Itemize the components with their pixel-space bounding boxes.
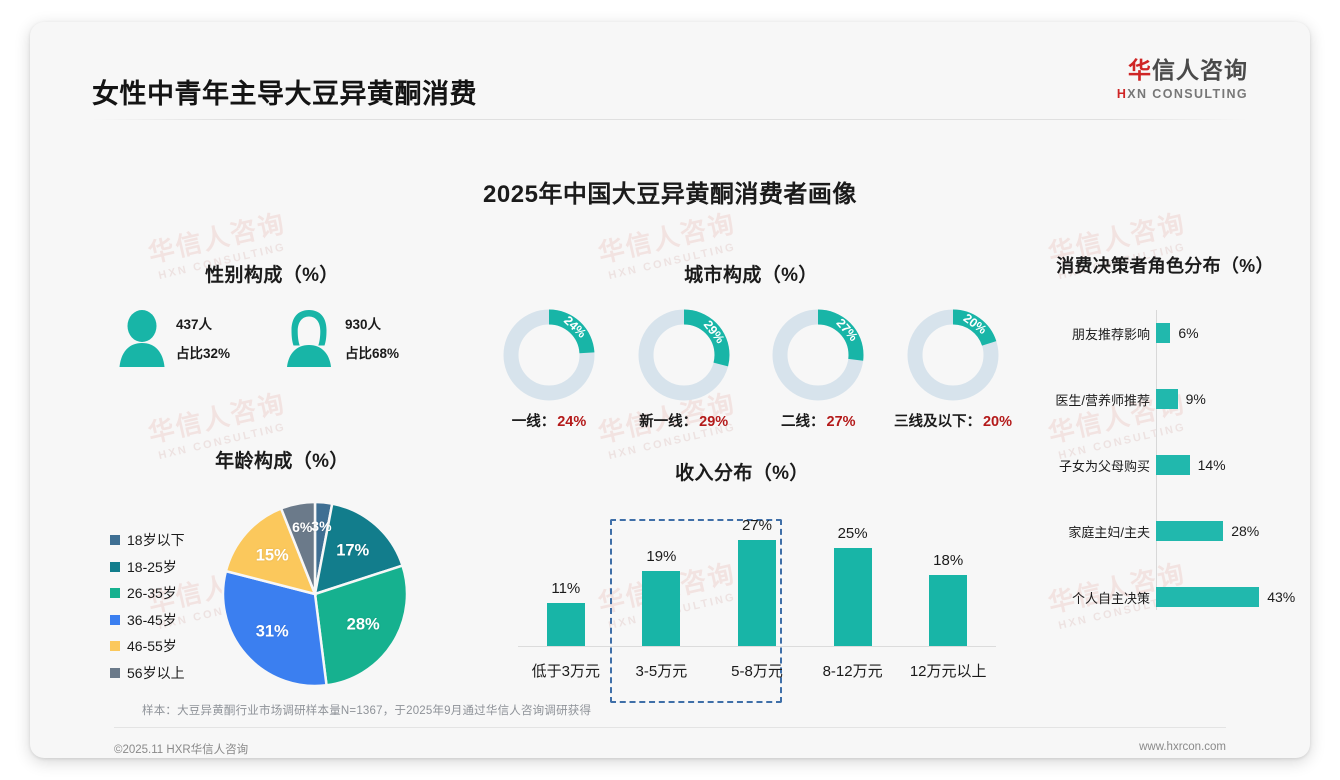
role-value-label: 6% <box>1178 325 1198 341</box>
bar-value-label: 18% <box>933 552 963 569</box>
legend-label: 26-35岁 <box>127 583 177 603</box>
gender-count-female: 930人 <box>345 310 399 339</box>
bar-value-label: 11% <box>551 580 580 597</box>
role-row: 个人自主决策43% <box>1030 584 1300 610</box>
page-title: 女性中青年主导大豆异黄酮消费 <box>92 72 477 111</box>
role-value-label: 9% <box>1186 391 1206 407</box>
role-value-label: 14% <box>1198 457 1226 473</box>
city-panel: 城市构成（%） 24%一线：24% 29%新一线：29% 27%二线：27% 2… <box>482 260 1020 431</box>
pie-slice-label: 31% <box>256 622 289 641</box>
bar-category-label: 5-8万元 <box>709 660 805 681</box>
bar <box>642 571 680 646</box>
legend-item: 18-25岁 <box>110 554 220 581</box>
donut-chart: 24% <box>503 309 595 401</box>
income-title: 收入分布（%） <box>482 458 1002 485</box>
website-url: www.hxrcon.com <box>1139 741 1226 753</box>
role-label: 医生/营养师推荐 <box>1030 390 1150 409</box>
role-bar <box>1156 389 1178 409</box>
donut-chart: 20% <box>907 309 999 401</box>
bar-category-label: 12万元以上 <box>900 660 996 681</box>
bar-category-label: 8-12万元 <box>805 660 901 681</box>
gender-title: 性别构成（%） <box>92 260 452 287</box>
legend-swatch-icon <box>110 535 120 545</box>
role-label: 家庭主妇/主夫 <box>1030 522 1150 541</box>
legend-swatch-icon <box>110 668 120 678</box>
role-bar <box>1156 587 1259 607</box>
legend-item: 56岁以上 <box>110 660 220 687</box>
bar-value-label: 25% <box>838 525 868 542</box>
donut-caption-label: 新一线： <box>639 414 697 430</box>
brand-logo: 华信人咨询 HXN CONSULTING <box>1117 58 1248 101</box>
roles-panel: 消费决策者角色分布（%） 朋友推荐影响6%医生/营养师推荐9%子女为父母购买14… <box>1030 252 1300 610</box>
income-bars: 11%19%27%25%18% <box>518 511 996 646</box>
sample-note: 样本：大豆异黄酮行业市场调研样本量N=1367，于2025年9月通过华信人咨询调… <box>142 702 591 718</box>
gender-count-male: 437人 <box>176 310 230 339</box>
legend-label: 46-55岁 <box>127 636 177 656</box>
age-pie-chart: 3%17%28%31%15%6% <box>220 499 410 689</box>
logo-cn-red: 华 <box>1128 57 1152 83</box>
donut-caption-label: 二线： <box>781 414 825 430</box>
role-bar <box>1156 521 1223 541</box>
legend-label: 18岁以下 <box>127 530 185 550</box>
legend-label: 18-25岁 <box>127 557 177 577</box>
donut-caption-value: 24% <box>557 414 586 430</box>
bar-column: 11% <box>518 511 614 646</box>
bar <box>929 575 967 646</box>
donut-caption: 二线：27% <box>757 410 879 431</box>
male-silhouette-icon <box>118 309 166 369</box>
legend-swatch-icon <box>110 588 120 598</box>
role-value-label: 43% <box>1267 589 1295 605</box>
age-panel: 年龄构成（%） 18岁以下18-25岁26-35岁36-45岁46-55岁56岁… <box>92 446 472 689</box>
legend-item: 18岁以下 <box>110 527 220 554</box>
role-label: 子女为父母购买 <box>1030 456 1150 475</box>
income-panel: 收入分布（%） 11%19%27%25%18% 低于3万元3-5万元5-8万元8… <box>482 458 1002 687</box>
donut-caption-value: 20% <box>983 414 1012 430</box>
legend-swatch-icon <box>110 641 120 651</box>
logo-en-red: H <box>1117 87 1127 101</box>
city-donut-item: 29%新一线：29% <box>623 309 745 431</box>
bar-category-label: 3-5万元 <box>614 660 710 681</box>
city-donut-row: 24%一线：24% 29%新一线：29% 27%二线：27% 20%三线及以下：… <box>482 309 1020 431</box>
legend-item: 36-45岁 <box>110 607 220 634</box>
bar-category-label: 低于3万元 <box>518 660 614 681</box>
legend-swatch-icon <box>110 562 120 572</box>
legend-item: 26-35岁 <box>110 580 220 607</box>
role-value-label: 28% <box>1231 523 1259 539</box>
roles-title: 消费决策者角色分布（%） <box>1030 252 1300 278</box>
bar-column: 25% <box>805 511 901 646</box>
header-divider <box>92 119 1248 120</box>
role-row: 朋友推荐影响6% <box>1030 320 1300 346</box>
city-donut-item: 24%一线：24% <box>488 309 610 431</box>
pie-slice-label: 28% <box>347 615 380 634</box>
logo-cn-rest: 信人咨询 <box>1152 57 1248 83</box>
role-bar <box>1156 323 1170 343</box>
bar-column: 19% <box>614 511 710 646</box>
income-x-axis-labels: 低于3万元3-5万元5-8万元8-12万元12万元以上 <box>518 660 996 681</box>
gender-panel: 性别构成（%） 437人 占比32% 930人 占比6 <box>92 260 452 369</box>
donut-caption: 三线及以下：20% <box>892 410 1014 431</box>
donut-chart: 27% <box>772 309 864 401</box>
bar <box>834 548 872 646</box>
bar-value-label: 27% <box>742 517 772 534</box>
role-row: 家庭主妇/主夫28% <box>1030 518 1300 544</box>
bar-value-label: 19% <box>646 548 676 565</box>
donut-caption-label: 三线及以下： <box>894 414 981 430</box>
gender-share-male: 占比32% <box>176 339 230 368</box>
age-legend: 18岁以下18-25岁26-35岁36-45岁46-55岁56岁以上 <box>92 499 220 689</box>
donut-caption-label: 一线： <box>512 414 556 430</box>
slide-header: 女性中青年主导大豆异黄酮消费 华信人咨询 HXN CONSULTING <box>30 22 1310 120</box>
logo-en-rest: XN CONSULTING <box>1127 87 1248 101</box>
donut-chart: 29% <box>638 309 730 401</box>
pie-slice-label: 17% <box>336 542 369 561</box>
donut-caption: 一线：24% <box>488 410 610 431</box>
footer-divider <box>114 727 1226 728</box>
city-donut-item: 20%三线及以下：20% <box>892 309 1014 431</box>
watermark-cn: 华信人咨询 <box>144 383 289 451</box>
bar <box>738 540 776 646</box>
legend-swatch-icon <box>110 615 120 625</box>
gender-share-female: 占比68% <box>345 339 399 368</box>
bar-column: 27% <box>709 511 805 646</box>
chart-subtitle: 2025年中国大豆异黄酮消费者画像 <box>30 174 1310 209</box>
age-title: 年龄构成（%） <box>92 446 472 473</box>
pie-slice-label: 6% <box>292 519 312 535</box>
role-label: 个人自主决策 <box>1030 588 1150 607</box>
slide-card: 华信人咨询HXN CONSULTING 华信人咨询HXN CONSULTING … <box>30 22 1310 758</box>
bar-column: 18% <box>900 511 996 646</box>
female-silhouette-icon <box>283 309 335 369</box>
legend-label: 56岁以上 <box>127 663 185 683</box>
income-baseline <box>518 646 996 647</box>
legend-label: 36-45岁 <box>127 610 177 630</box>
role-row: 医生/营养师推荐9% <box>1030 386 1300 412</box>
copyright-text: ©2025.11 HXR华信人咨询 <box>114 741 248 757</box>
role-row: 子女为父母购买14% <box>1030 452 1300 478</box>
city-donut-item: 27%二线：27% <box>757 309 879 431</box>
role-label: 朋友推荐影响 <box>1030 324 1150 343</box>
role-bar <box>1156 455 1190 475</box>
legend-item: 46-55岁 <box>110 633 220 660</box>
bar <box>547 603 585 646</box>
donut-caption-value: 27% <box>827 414 856 430</box>
donut-caption: 新一线：29% <box>623 410 745 431</box>
gender-item-male: 437人 占比32% <box>118 309 283 369</box>
pie-slice-label: 3% <box>311 518 331 534</box>
gender-item-female: 930人 占比68% <box>283 309 448 369</box>
city-title: 城市构成（%） <box>482 260 1020 287</box>
donut-caption-value: 29% <box>699 414 728 430</box>
pie-slice-label: 15% <box>256 547 289 566</box>
